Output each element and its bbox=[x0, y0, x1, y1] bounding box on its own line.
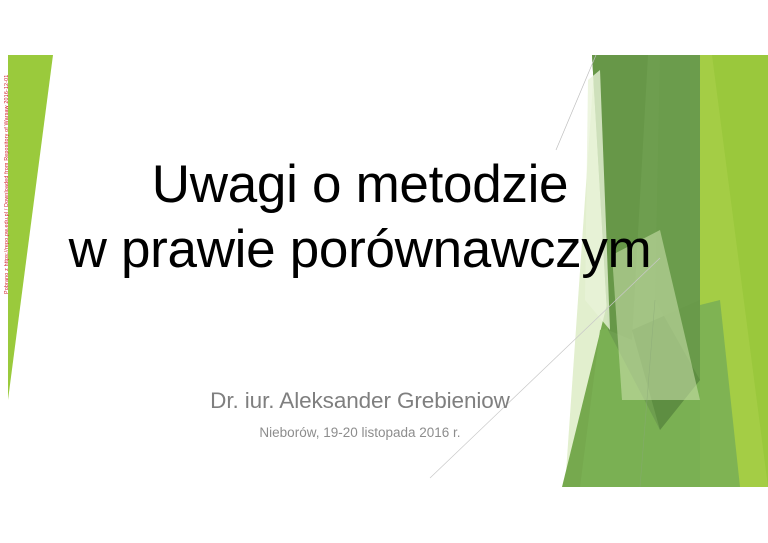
repository-watermark-text: Pobrano z https://repo.pw.edu.pl / Downl… bbox=[0, 0, 14, 300]
left-triangle-shape bbox=[8, 55, 53, 400]
slide-author: Dr. iur. Aleksander Grebieniow bbox=[60, 388, 660, 414]
mid-green-right-facet bbox=[655, 55, 700, 380]
bright-green-column bbox=[660, 55, 768, 487]
slide-title: Uwagi o metodzie w prawie porównawczym bbox=[60, 152, 660, 282]
presentation-slide: Pobrano z https://repo.pw.edu.pl / Downl… bbox=[0, 0, 768, 543]
bright-green-slice bbox=[663, 55, 768, 487]
slide-event-date: Nieborów, 19-20 listopada 2016 r. bbox=[60, 425, 660, 440]
slide-text-container: Uwagi o metodzie w prawie porównawczym D… bbox=[60, 0, 660, 543]
slide-title-line-1: Uwagi o metodzie bbox=[60, 152, 660, 217]
slide-title-line-2: w prawie porównawczym bbox=[60, 217, 660, 282]
